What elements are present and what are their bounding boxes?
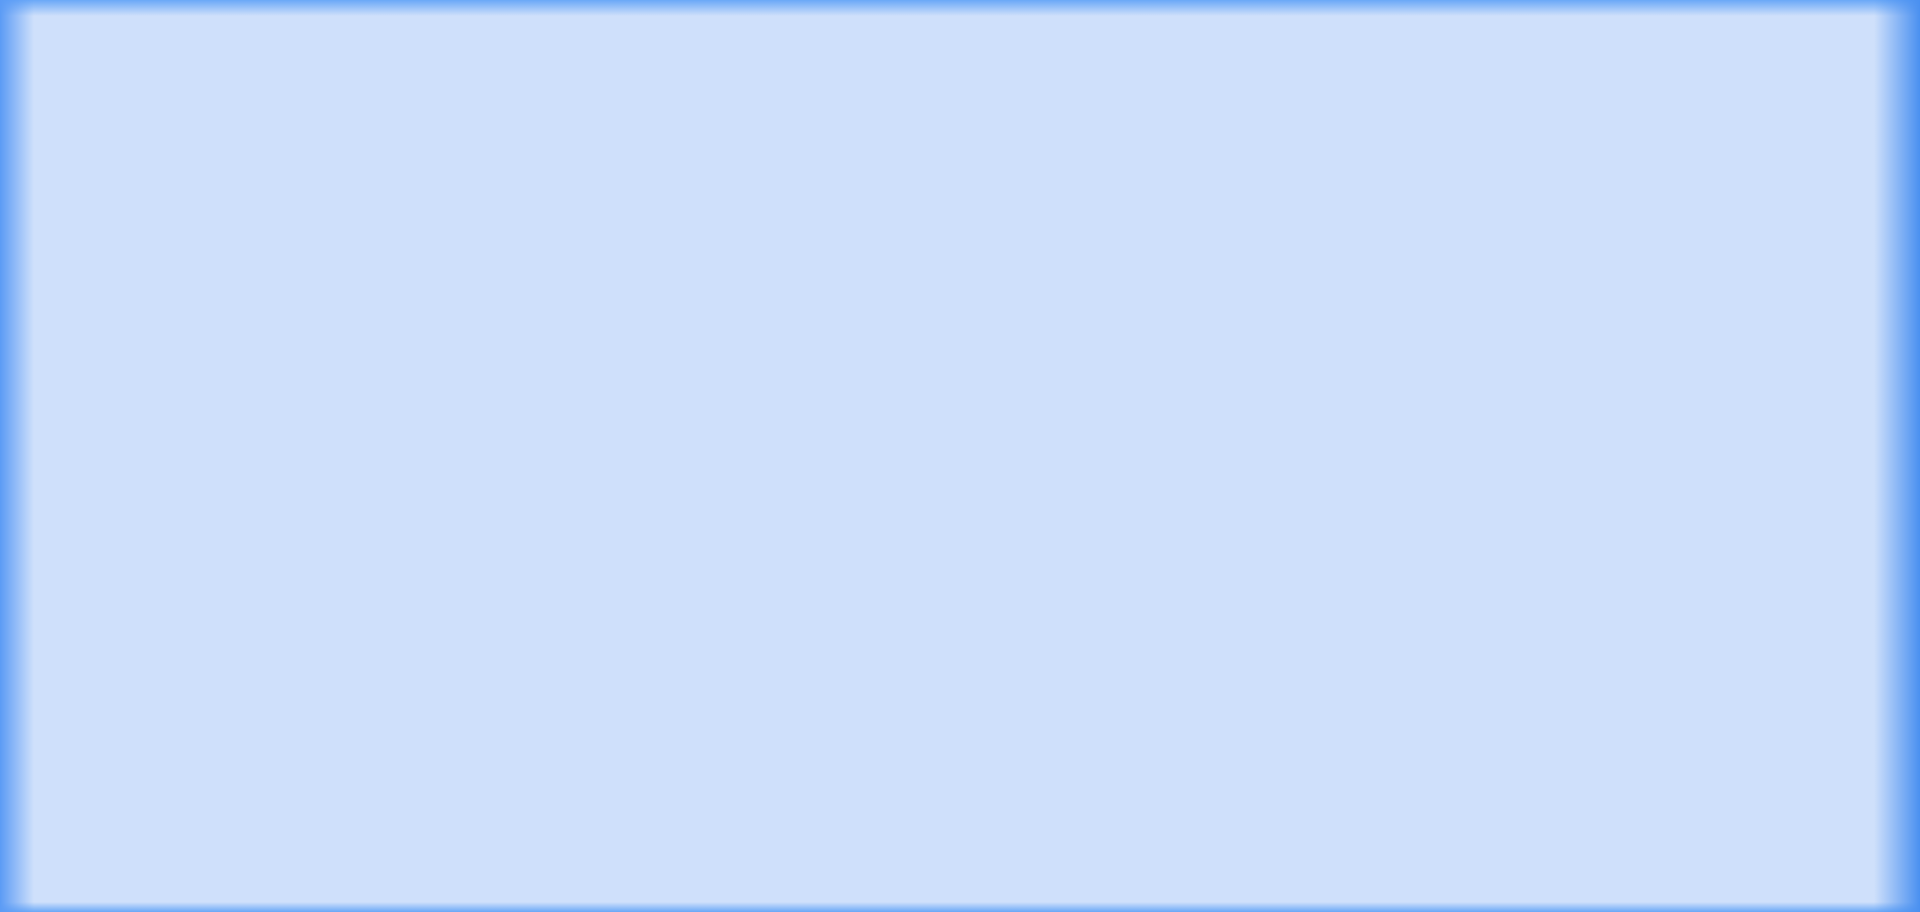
header-navigation: ← Back to All Posts HOME PODCAST TOOLS H… [1498, 103, 1912, 187]
facebook-link[interactable] [1786, 165, 1808, 187]
nav-tools-hub[interactable]: TOOLS HUB [1783, 134, 1912, 160]
page-title: The Val and Chip Odyssey: A Year of Sust… [9, 340, 1912, 376]
page-root: Wanderlust Whispers ← Back to All Posts … [9, 7, 1912, 908]
facebook-icon [1787, 166, 1807, 186]
logo-arc-text: Wanderlust Whispers [9, 14, 225, 163]
social-links [1498, 165, 1912, 187]
back-to-all-posts-link[interactable]: ← Back to All Posts [1498, 103, 1768, 129]
main-nav-links: HOME PODCAST TOOLS HUB [1498, 134, 1912, 160]
logo-wordmark: Wanderlust Whispers [9, 14, 233, 239]
svg-text:Wanderlust Whispers: Wanderlust Whispers [9, 14, 225, 163]
post-meta: Published: March 24, 2026 | By Val & Chi… [9, 408, 1912, 434]
site-header: Wanderlust Whispers ← Back to All Posts … [9, 7, 1912, 262]
article-body: The Val and Chip Odyssey: A Year of Sust… [9, 340, 1912, 878]
x-twitter-icon [1891, 166, 1911, 186]
nav-podcast[interactable]: PODCAST [1622, 134, 1729, 160]
x-twitter-link[interactable] [1890, 165, 1912, 187]
site-logo[interactable]: Wanderlust Whispers [9, 14, 233, 239]
instagram-icon [1839, 166, 1859, 186]
hero-image [61, 458, 1912, 878]
instagram-link[interactable] [1838, 165, 1860, 187]
hero-film-grain [61, 458, 1912, 878]
nav-home[interactable]: HOME [1498, 134, 1567, 160]
